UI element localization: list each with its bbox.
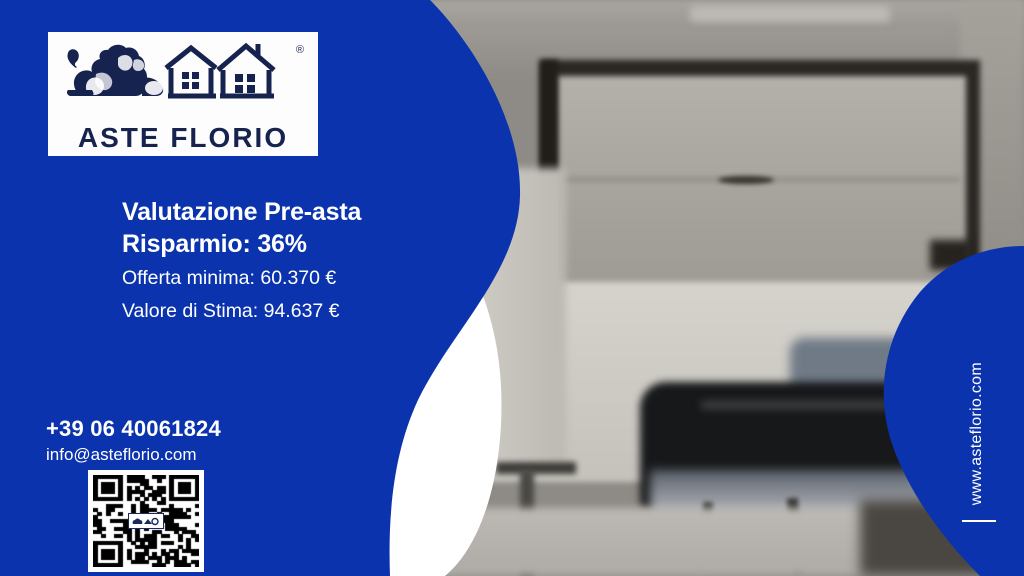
headline-line-2: Risparmio: 36% <box>122 228 452 260</box>
email-address[interactable]: info@asteflorio.com <box>46 445 221 465</box>
logo-artwork: ® <box>58 38 308 110</box>
qr-logo-icon <box>131 516 161 527</box>
headline-line-1: Valutazione Pre-asta <box>122 196 452 228</box>
phone-number[interactable]: +39 06 40061824 <box>46 416 221 442</box>
brand-logo: ® ASTE FLORIO <box>48 32 318 156</box>
estimated-value-text: Valore di Stima: 94.637 € <box>122 298 452 326</box>
photo-ceiling-beam <box>690 6 890 22</box>
website-url-vertical[interactable]: www.asteflorio.com <box>968 362 986 505</box>
contact-block: +39 06 40061824 info@asteflorio.com <box>46 416 221 465</box>
photo-door-handle <box>718 176 774 184</box>
lion-and-houses-icon <box>58 38 308 108</box>
logo-wordmark: ASTE FLORIO <box>48 122 318 154</box>
photo-chair-bar <box>496 462 576 474</box>
photo-door-panel <box>556 76 966 306</box>
qr-embedded-logo <box>128 513 164 529</box>
minimum-offer-text: Offerta minima: 60.370 € <box>122 265 452 293</box>
vertical-divider-rule <box>962 520 996 522</box>
flyer-canvas: ® ASTE FLORIO Valutazione Pre-asta Rispa… <box>0 0 1024 576</box>
qr-code[interactable] <box>88 470 204 572</box>
registered-trademark-icon: ® <box>296 44 304 56</box>
headline-block: Valutazione Pre-asta Risparmio: 36% Offe… <box>122 196 452 325</box>
